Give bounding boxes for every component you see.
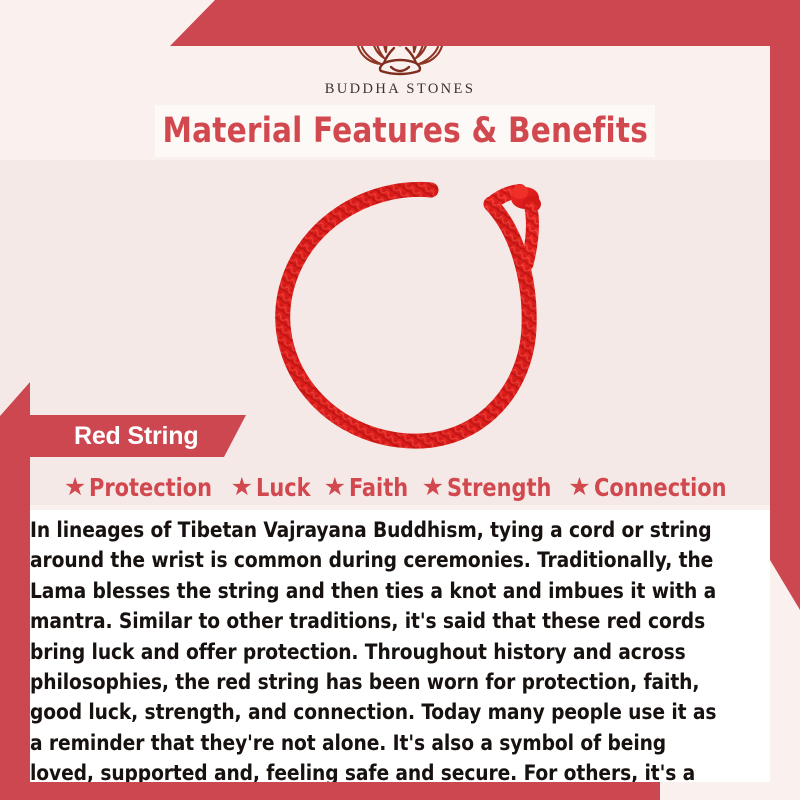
feature-list: ★ Protection ★ Luck ★ Faith ★ Strength ★… bbox=[0, 466, 800, 508]
description-panel: In lineages of Tibetan Vajrayana Buddhis… bbox=[30, 510, 770, 782]
feature-label: Protection bbox=[89, 473, 212, 502]
infographic-page: BUDDHA STONES Material Features & Benefi… bbox=[0, 0, 800, 800]
feature-item-connection: ★ Connection bbox=[568, 473, 736, 502]
feature-item-strength: ★ Strength bbox=[422, 473, 560, 502]
star-icon: ★ bbox=[324, 475, 346, 500]
star-icon: ★ bbox=[231, 475, 253, 500]
feature-label: Faith bbox=[349, 473, 408, 502]
feature-label: Luck bbox=[256, 473, 311, 502]
frame-bottom-bar bbox=[0, 782, 660, 800]
brand-name: BUDDHA STONES bbox=[325, 81, 476, 98]
material-label: Red String bbox=[74, 422, 198, 451]
description-text: In lineages of Tibetan Vajrayana Buddhis… bbox=[30, 510, 744, 800]
page-title: Material Features & Benefits bbox=[162, 111, 648, 151]
material-label-banner: Red String bbox=[28, 415, 246, 457]
red-string-bracelet-photo bbox=[248, 168, 578, 468]
feature-item-protection: ★ Protection bbox=[64, 473, 222, 502]
feature-item-faith: ★ Faith bbox=[324, 473, 413, 502]
star-icon: ★ bbox=[422, 475, 444, 500]
frame-right-bar bbox=[770, 0, 800, 610]
feature-label: Strength bbox=[447, 473, 551, 502]
title-banner: Material Features & Benefits bbox=[155, 105, 655, 157]
feature-item-luck: ★ Luck bbox=[231, 473, 315, 502]
frame-left-bar bbox=[0, 382, 30, 800]
feature-label: Connection bbox=[594, 473, 727, 502]
star-icon: ★ bbox=[64, 475, 86, 500]
star-icon: ★ bbox=[568, 475, 590, 500]
